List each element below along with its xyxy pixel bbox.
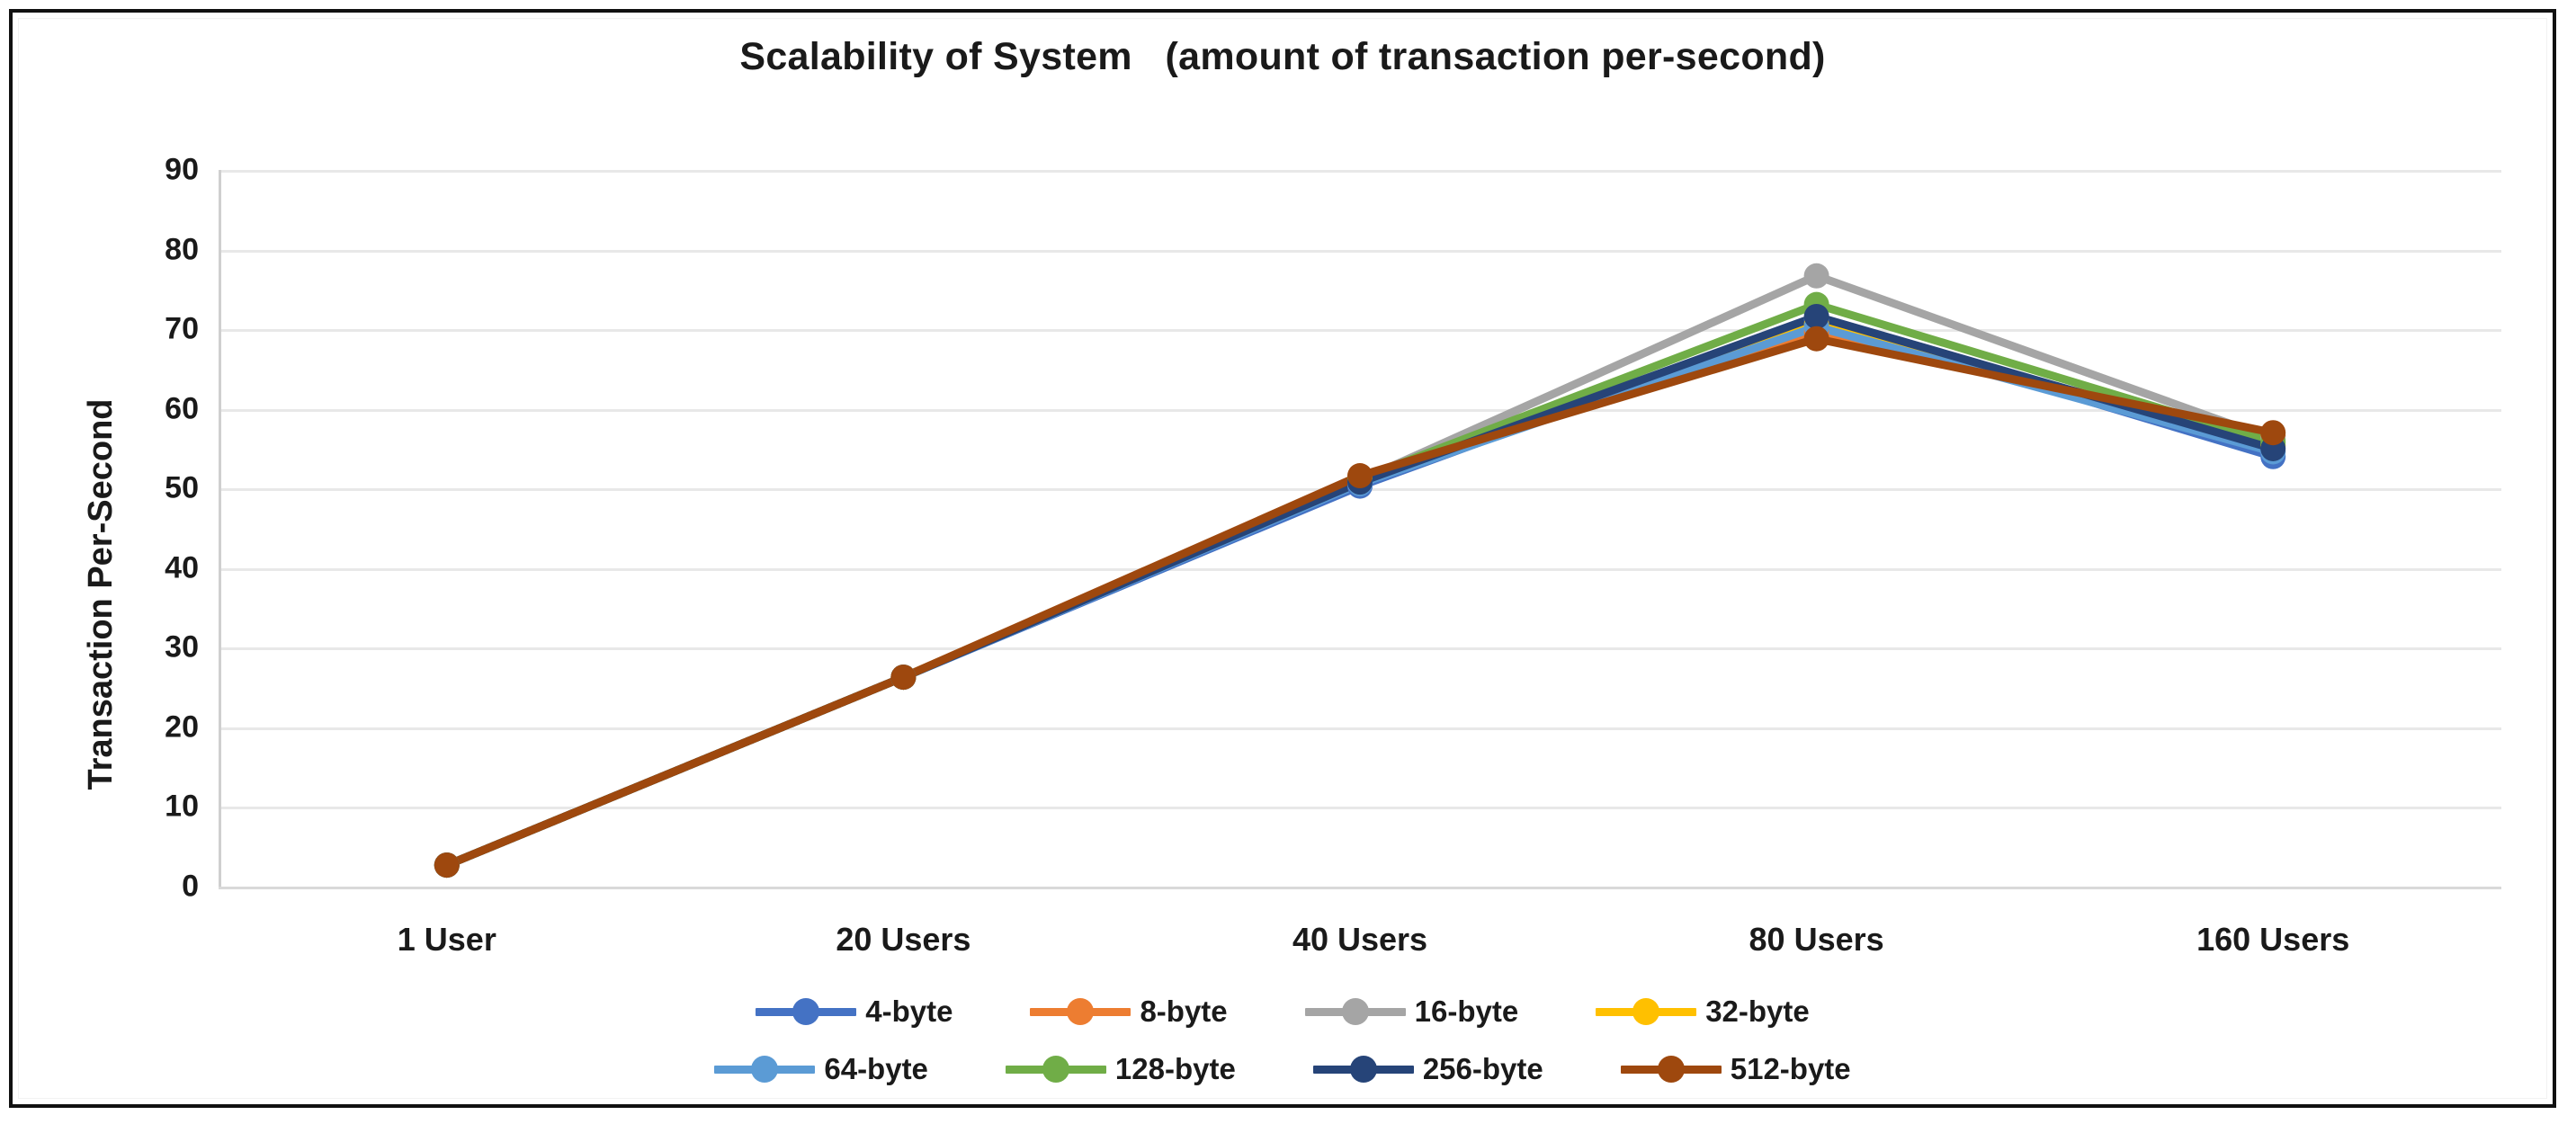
- legend-label: 256-byte: [1423, 1052, 1543, 1086]
- legend-marker-icon: [1313, 1056, 1414, 1083]
- series-line: [447, 317, 2273, 865]
- legend-item-32-byte[interactable]: 32-byte: [1596, 995, 1810, 1029]
- legend-label: 16-byte: [1415, 995, 1519, 1029]
- legend-item-128-byte[interactable]: 128-byte: [1006, 1052, 1236, 1086]
- legend-marker-icon: [1305, 998, 1406, 1025]
- legend-label: 512-byte: [1731, 1052, 1851, 1086]
- legend-item-8-byte[interactable]: 8-byte: [1030, 995, 1227, 1029]
- series-line: [447, 333, 2273, 865]
- data-point-marker: [890, 665, 916, 690]
- series-line: [447, 305, 2273, 865]
- series-line: [447, 276, 2273, 865]
- legend-item-16-byte[interactable]: 16-byte: [1305, 995, 1519, 1029]
- data-point-marker: [1804, 263, 1829, 289]
- series-line: [447, 339, 2273, 865]
- legend-item-4-byte[interactable]: 4-byte: [756, 995, 953, 1029]
- data-point-marker: [1804, 326, 1829, 352]
- legend-marker-icon: [1596, 998, 1696, 1025]
- data-point-marker: [1804, 304, 1829, 329]
- series-line: [447, 319, 2273, 865]
- legend-item-256-byte[interactable]: 256-byte: [1313, 1052, 1543, 1086]
- data-point-marker: [1347, 463, 1373, 488]
- plot-area: 0102030405060708090 1 User20 Users40 Use…: [19, 19, 2546, 1098]
- legend-marker-icon: [756, 998, 856, 1025]
- legend-marker-icon: [1621, 1056, 1722, 1083]
- series-lines: [19, 19, 2555, 1107]
- legend-marker-icon: [1006, 1056, 1106, 1083]
- legend-item-512-byte[interactable]: 512-byte: [1621, 1052, 1851, 1086]
- legend-row: 64-byte128-byte256-byte512-byte: [19, 1040, 2546, 1098]
- series-line: [447, 326, 2273, 865]
- legend-label: 32-byte: [1705, 995, 1810, 1029]
- legend-label: 128-byte: [1115, 1052, 1236, 1086]
- chart-canvas: Scalability of System (amount of transac…: [18, 18, 2547, 1099]
- legend-row: 4-byte8-byte16-byte32-byte: [19, 983, 2546, 1040]
- legend-marker-icon: [1030, 998, 1131, 1025]
- series-line: [447, 325, 2273, 865]
- legend-label: 8-byte: [1140, 995, 1227, 1029]
- legend-item-64-byte[interactable]: 64-byte: [714, 1052, 928, 1086]
- data-point-marker: [2260, 420, 2285, 445]
- legend-label: 64-byte: [824, 1052, 928, 1086]
- legend-label: 4-byte: [865, 995, 953, 1029]
- chart-legend: 4-byte8-byte16-byte32-byte64-byte128-byt…: [19, 983, 2546, 1098]
- legend-marker-icon: [714, 1056, 815, 1083]
- data-point-marker: [434, 852, 460, 878]
- chart-frame: Scalability of System (amount of transac…: [9, 9, 2556, 1108]
